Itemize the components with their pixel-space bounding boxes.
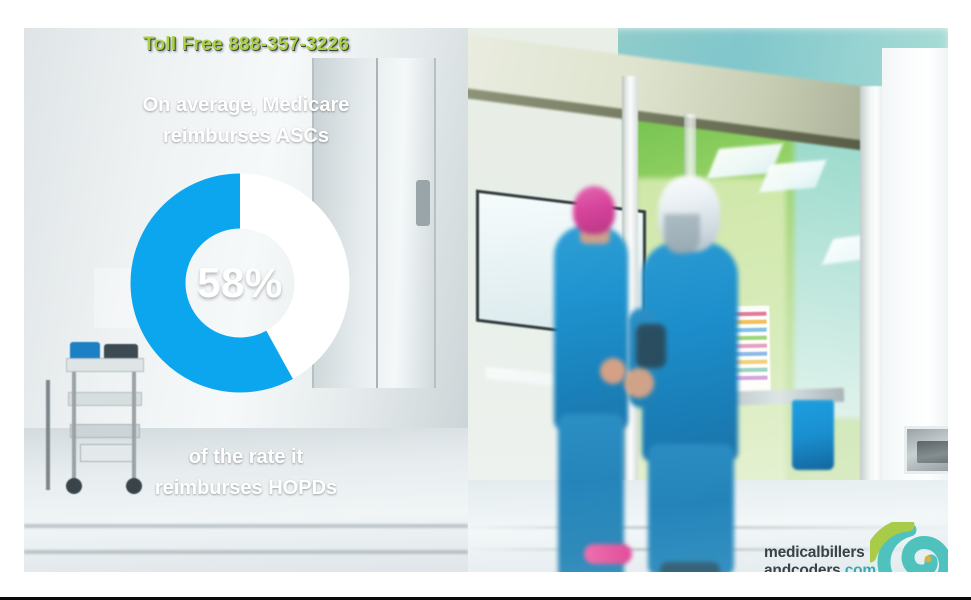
subline-line-2: reimburses HOPDs bbox=[24, 473, 468, 504]
subline-line-1: of the rate it bbox=[189, 446, 303, 468]
floor-seam-1 bbox=[24, 524, 468, 528]
brand-name-line-1: medicalbillers bbox=[764, 544, 865, 561]
grey-overlay-panel: Toll Free 888-357-3226 On average, Medic… bbox=[24, 28, 468, 572]
spiral-hexagon-logo-mark bbox=[870, 522, 948, 572]
donut-chart: 58% bbox=[128, 168, 352, 398]
headline-line-2: reimburses ASCs bbox=[24, 121, 468, 152]
wall-vent bbox=[904, 426, 948, 474]
pink-shoe bbox=[584, 544, 632, 564]
floor-seam-2 bbox=[24, 550, 468, 554]
door-handle bbox=[416, 180, 430, 226]
headline-line-1: On average, Medicare bbox=[143, 94, 350, 116]
brand-name-line-2: andcoders bbox=[764, 562, 841, 572]
infographic-frame: Toll Free 888-357-3226 On average, Medic… bbox=[0, 0, 971, 600]
toll-free-number: Toll Free 888-357-3226 bbox=[24, 34, 468, 56]
subline-text: of the rate it reimburses HOPDs bbox=[24, 442, 468, 504]
brand-logo[interactable]: medicalbillers andcoders.com bbox=[760, 522, 948, 572]
supply-bin bbox=[792, 400, 834, 470]
photo-canvas: Toll Free 888-357-3226 On average, Medic… bbox=[24, 28, 948, 572]
headline-text: On average, Medicare reimburses ASCs bbox=[24, 90, 468, 152]
donut-chart-svg bbox=[128, 168, 352, 398]
